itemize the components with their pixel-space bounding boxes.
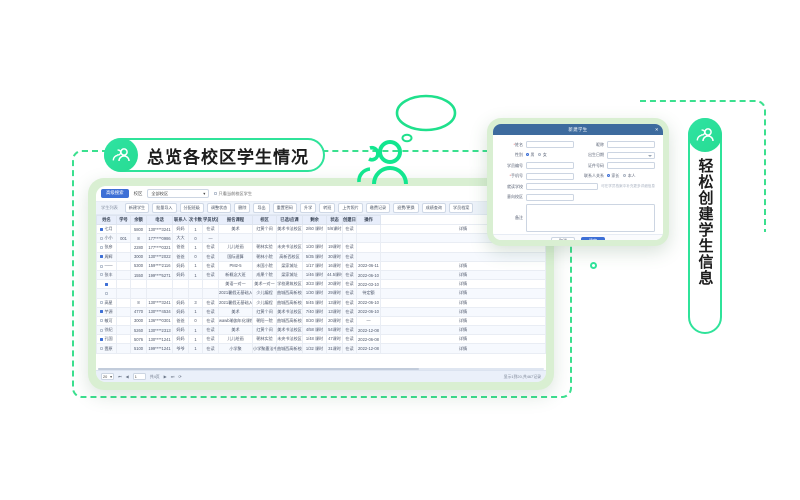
- table-cell-remain: 19课时: [327, 243, 343, 252]
- table-cell-date: —: [357, 316, 381, 325]
- table-cell-cards: 1: [189, 335, 203, 344]
- table-cell-status: [203, 280, 219, 289]
- table-cell-status: [203, 289, 219, 298]
- table-cell-branch: 未央书法校区: [277, 335, 303, 344]
- table-cell-campus: 美术一对一: [253, 280, 277, 289]
- table-cell-remain: 47课时: [327, 335, 343, 344]
- table-cell-date: [357, 234, 381, 243]
- table-cell-action: 详情: [381, 289, 546, 298]
- dialog-title: 新建学生: [568, 127, 587, 133]
- table-cell-branch: 高新西校区: [277, 252, 303, 261]
- table-cell-cards: 1: [189, 307, 203, 316]
- row-checkbox-icon[interactable]: [100, 273, 103, 276]
- table-cell-contact: 爸爸: [173, 252, 189, 261]
- field-input[interactable]: [526, 141, 574, 148]
- table-cell-branch: 美术书法校区: [277, 307, 303, 316]
- search-bar: 高级搜索 校区 全部校区 ▾ 只看当前校区学生 关键字搜索: [96, 186, 546, 202]
- table-row[interactable]: 美语一对一美术一对一学校建筑校区3/23 课时20课时在读2022-03-10详…: [97, 280, 546, 289]
- table-cell-status: —: [203, 234, 219, 243]
- table-cell-hours: 0/20 课时: [303, 316, 327, 325]
- toolbar-button[interactable]: 删除: [234, 203, 250, 212]
- table-cell-date: [357, 243, 381, 252]
- row-checkbox-icon[interactable]: [100, 347, 103, 350]
- badge-overview-label: 总览各校区学生情况: [147, 143, 309, 168]
- table-column-header[interactable]: 学员状态: [203, 216, 219, 225]
- first-page-icon[interactable]: ⏮: [118, 374, 122, 379]
- row-checkbox-icon[interactable]: [100, 265, 103, 268]
- pagination-bar: 20 ▾ ⏮ ◀ 1 共4页 ▶ ⏭ ⟳ 显示1到20,共467记录: [96, 370, 546, 382]
- table-cell-no: [117, 344, 131, 353]
- people-illustration-icon: [356, 138, 412, 190]
- table-cell-status: 在读: [203, 307, 219, 316]
- table-cell-hours: 1/48 课时: [303, 335, 327, 344]
- table-cell-remain: 30课时: [327, 252, 343, 261]
- table-column-header[interactable]: 报名课程: [219, 216, 253, 225]
- table-cell-course: 儿儿绘画: [219, 243, 253, 252]
- table-body: 七月5800130****3241妈妈1在读美术红黄个间美术书法校区2/60 课…: [97, 225, 546, 354]
- table-cell-date: 2022-06-10: [357, 298, 381, 307]
- field-input[interactable]: [607, 162, 655, 169]
- badge-create-label: 轻松创建学生信息: [698, 158, 713, 286]
- table-column-header[interactable]: 余额: [131, 216, 147, 225]
- table-cell-contact: [173, 289, 189, 298]
- table-cell-name: 七月: [97, 225, 117, 234]
- table-cell-course: [219, 234, 253, 243]
- table-cell-phone: 130****2022: [147, 252, 173, 261]
- table-column-header[interactable]: 创建日期: [343, 216, 357, 225]
- table-cell-balance: 5100: [131, 344, 147, 353]
- table-cell-course: 美术: [219, 225, 253, 234]
- dialog-footer: 取消 确定: [493, 234, 663, 240]
- advanced-search-button[interactable]: 高级搜索: [101, 189, 129, 197]
- table-cell-no: [117, 261, 131, 270]
- toolbar-button[interactable]: 转班: [319, 203, 335, 212]
- table-cell-no: [117, 335, 131, 344]
- table-cell-balance: 5800: [131, 225, 147, 234]
- table-cell-name: 敏可: [97, 316, 117, 325]
- table-cell-hours: 1/20 课时: [303, 243, 327, 252]
- table-cell-branch: [277, 234, 303, 243]
- form-row-联系人关系: 联系人关系家长本人: [582, 173, 655, 180]
- create-student-dialog: 新建学生 ✕ *姓名昵称性别男女出生日期学员编号证件号码*手机号联系人关系家长本…: [487, 118, 669, 246]
- table-cell-no: [117, 270, 131, 279]
- table-cell-status: 在读: [203, 261, 219, 270]
- toolbar-button[interactable]: 调整状态: [207, 203, 231, 212]
- toolbar-button[interactable]: 导出: [253, 203, 269, 212]
- table-cell-course: 2021暑假无基础入门班: [219, 298, 253, 307]
- table-cell-branch: 曲城西高新校区: [277, 298, 303, 307]
- table-cell-action: 详情: [381, 280, 546, 289]
- table-cell-campus: 朝林小院: [253, 252, 277, 261]
- table-cell-contact: 爷爷: [173, 344, 189, 353]
- action-toolbar: 学生列表 新建学生 批量导入 分配班级 调整状态 删除 导出 重置密码 升学 转…: [96, 202, 546, 215]
- table-cell-action: 详情: [381, 326, 546, 335]
- table-cell-campus: 少儿编程: [253, 298, 277, 307]
- table-cell-status: 在读: [203, 252, 219, 261]
- cancel-button[interactable]: 取消: [551, 237, 575, 241]
- page-total-label: 共4页: [150, 374, 160, 380]
- table-cell-remain: 20课时: [327, 316, 343, 325]
- last-page-icon[interactable]: ⏭: [171, 374, 175, 379]
- table-cell-action: 详情: [381, 335, 546, 344]
- toolbar-button[interactable]: 升学: [300, 203, 316, 212]
- table-cell-phone: 159****2116: [147, 261, 173, 270]
- table-cell-state: 在读: [343, 243, 357, 252]
- table-cell-date: 2022-06-11: [357, 261, 381, 270]
- table-cell-name: 芋源: [97, 307, 117, 316]
- table-cell-campus: 朝林实验: [253, 243, 277, 252]
- table-cell-cards: 0: [189, 234, 203, 243]
- dialog-title-bar: 新建学生 ✕: [493, 124, 663, 135]
- table-cell-hours: 4/58 课时: [303, 326, 327, 335]
- table-row[interactable]: ——5300159****2116妈妈1在读PM2-5未国小院梁家城址1/17 …: [97, 261, 546, 270]
- chevron-down-icon: ▾: [110, 374, 112, 379]
- toolbar-button[interactable]: 退费/更换: [393, 203, 419, 212]
- table-cell-state: 在读: [343, 316, 357, 325]
- radio-option[interactable]: 男: [526, 152, 534, 158]
- people-icon: [104, 138, 138, 172]
- table-cell-no: [117, 243, 131, 252]
- radio-option[interactable]: 女: [538, 152, 546, 158]
- radio-group[interactable]: 家长本人: [607, 173, 636, 179]
- table-cell-course: 国际速算: [219, 252, 253, 261]
- table-cell-state: 在读: [343, 326, 357, 335]
- table-column-header[interactable]: 姓名: [97, 216, 117, 225]
- table-cell-name: 高星: [97, 298, 117, 307]
- radio-icon: [526, 153, 529, 156]
- radio-icon: [623, 174, 626, 177]
- table-cell-cards: [189, 280, 203, 289]
- table-row[interactable]: 张彦2280177****0321爸爸1在读儿儿绘画朝林实验未央书法校区1/20…: [97, 243, 546, 252]
- form-row-就读学校: 就读学校可在学员档案中补充更多详细信息: [501, 183, 655, 190]
- table-row[interactable]: 敏可3000136****0301爸爸0在读wawb瑜伽年化课程朝阳一院曲城西高…: [97, 316, 546, 325]
- row-checkbox-icon[interactable]: [100, 237, 103, 240]
- row-checkbox-icon[interactable]: [100, 329, 103, 332]
- form-row-证件号码: 证件号码: [582, 162, 655, 169]
- table-cell-remain: 5/6课时: [327, 225, 343, 234]
- table-row[interactable]: 张丰1550199****5271妈妈1在读新概念大班成果个院梁家城址1/46 …: [97, 270, 546, 279]
- campus-filter-label: 校区: [134, 191, 143, 197]
- table-cell-remain: 20课时: [327, 280, 343, 289]
- form-row-出生日期: 出生日期: [582, 152, 655, 159]
- table-cell-contact: 妈妈: [173, 326, 189, 335]
- table-row[interactable]: 七月5800130****3241妈妈1在读美术红黄个间美术书法校区2/60 课…: [97, 225, 546, 234]
- table-cell-cards: [189, 289, 203, 298]
- table-cell-state: 在读: [343, 225, 357, 234]
- table-cell-campus: 未国小院: [253, 261, 277, 270]
- table-cell-hours: 1/17 课时: [303, 261, 327, 270]
- field-input[interactable]: [526, 173, 574, 180]
- table-cell-campus: 成果个院: [253, 270, 277, 279]
- field-input[interactable]: [607, 152, 655, 159]
- table-cell-date: 2022-06-10: [357, 307, 381, 316]
- radio-option[interactable]: 家长: [607, 173, 619, 179]
- row-checkbox-icon[interactable]: [100, 246, 103, 249]
- table-cell-status: 在读: [203, 225, 219, 234]
- table-cell-course: 美术: [219, 307, 253, 316]
- radio-icon: [538, 153, 541, 156]
- table-cell-name: 张彦: [97, 243, 117, 252]
- row-checkbox-icon[interactable]: [100, 255, 103, 258]
- table-cell-date: [357, 252, 381, 261]
- table-row[interactable]: 孔国5076130****1241妈妈1在读儿儿绘画朝林实验未央书法校区1/48…: [97, 335, 546, 344]
- toolbar-button[interactable]: 成绩查询: [422, 203, 446, 212]
- table-cell-phone: 199****1241: [147, 344, 173, 353]
- current-campus-checkbox[interactable]: 只看当前校区学生: [214, 191, 252, 197]
- table-cell-campus: 少儿编程: [253, 289, 277, 298]
- table-cell-no: [117, 307, 131, 316]
- table-cell-balance: 5076: [131, 335, 147, 344]
- table-cell-course: 美语一对一: [219, 280, 253, 289]
- table-cell-hours: 1/30 课时: [303, 289, 327, 298]
- table-cell-branch: 梁家城址: [277, 261, 303, 270]
- table-cell-action: 详情: [381, 298, 546, 307]
- table-cell-branch: 美术书法校区: [277, 225, 303, 234]
- field-hint: 可在学员档案中补充更多详细信息: [601, 184, 655, 189]
- table-cell-course: 美术: [219, 326, 253, 335]
- table-cell-status: 在读: [203, 243, 219, 252]
- table-row[interactable]: 高星8130****3241妈妈3在读2021暑假无基础入门班少儿编程曲城西高新…: [97, 298, 546, 307]
- campus-filter-select[interactable]: 全部校区 ▾: [147, 189, 209, 198]
- radio-icon: [607, 174, 610, 177]
- badge-overview: 总览各校区学生情况: [104, 138, 325, 172]
- field-label: 联系人关系: [582, 173, 604, 179]
- campus-filter-value: 全部校区: [151, 191, 168, 197]
- chevron-down-icon: ▾: [203, 191, 205, 196]
- table-cell-branch: 未央书法校区: [277, 243, 303, 252]
- table-cell-state: [343, 234, 357, 243]
- table-cell-state: 在读: [343, 289, 357, 298]
- table-column-header[interactable]: 已选/应课: [277, 216, 303, 225]
- student-table: 姓名学号余额电话联系人次卡数学员状态报名课程校区已选/应课剩余状态创建日期操作 …: [96, 215, 546, 354]
- table-cell-branch: 曲城西高新校区: [277, 316, 303, 325]
- table-cell-phone: 177****0321: [147, 243, 173, 252]
- table-cell-course: PM2-5: [219, 261, 253, 270]
- form-row-意向校区: 意向校区: [501, 194, 574, 201]
- table-cell-balance: 3000: [131, 316, 147, 325]
- row-checkbox-icon[interactable]: [100, 301, 103, 304]
- table-row[interactable]: 徐纪5260130****2313妈妈1在读美术红黄个间美术书法校区4/58 课…: [97, 326, 546, 335]
- table-cell-contact: 妈妈: [173, 270, 189, 279]
- confirm-button[interactable]: 确定: [581, 237, 605, 241]
- table-cell-course: wawb瑜伽年化课程: [219, 316, 253, 325]
- table-column-header[interactable]: 学号: [117, 216, 131, 225]
- field-label: *手机号: [501, 173, 523, 179]
- table-cell-remain: 54课时: [327, 326, 343, 335]
- table-cell-contact: 妈妈: [173, 298, 189, 307]
- row-checkbox-icon[interactable]: [100, 319, 103, 322]
- table-column-header[interactable]: 校区: [253, 216, 277, 225]
- table-cell-no: [117, 225, 131, 234]
- table-column-header[interactable]: 次卡数: [189, 216, 203, 225]
- table-cell-state: 在读: [343, 252, 357, 261]
- toolbar-button[interactable]: 批量导入: [152, 203, 176, 212]
- table-cell-no: [117, 289, 131, 298]
- row-checkbox-icon[interactable]: [100, 228, 103, 231]
- table-cell-remain: 16课时: [327, 261, 343, 270]
- table-cell-remain: 44.5课时: [327, 270, 343, 279]
- table-cell-state: 在读: [343, 298, 357, 307]
- table-cell-phone: 130****1241: [147, 335, 173, 344]
- refresh-icon[interactable]: ⟳: [178, 374, 181, 379]
- table-cell-no: [117, 280, 131, 289]
- field-label: 出生日期: [582, 152, 604, 158]
- table-cell-phone: 177****0986: [147, 234, 173, 243]
- field-input[interactable]: [526, 183, 598, 190]
- table-cell-hours: 1/32 课时: [303, 344, 327, 353]
- form-row-备注: 备注: [501, 204, 655, 232]
- table-cell-contact: 爸爸: [173, 243, 189, 252]
- table-cell-hours: 2/60 课时: [303, 225, 327, 234]
- table-cell-cards: 1: [189, 225, 203, 234]
- form-row-姓名: *姓名: [501, 141, 574, 148]
- table-cell-no: [117, 298, 131, 307]
- table-cell-contact: 妈妈: [173, 335, 189, 344]
- row-checkbox-icon[interactable]: [105, 283, 108, 286]
- table-header-row: 姓名学号余额电话联系人次卡数学员状态报名课程校区已选/应课剩余状态创建日期操作: [97, 216, 546, 225]
- field-textarea[interactable]: [526, 204, 655, 232]
- prev-page-icon[interactable]: ◀: [126, 374, 129, 379]
- table-cell-name: 周辉: [97, 252, 117, 261]
- toolbar-button[interactable]: 重置密码: [273, 203, 297, 212]
- table-cell-hours: 3/23 课时: [303, 280, 327, 289]
- table-cell-name: [97, 280, 117, 289]
- table-cell-campus: 红黄个间: [253, 326, 277, 335]
- table-cell-campus: 朝林实验: [253, 335, 277, 344]
- table-cell-remain: 31课时: [327, 344, 343, 353]
- table-cell-phone: 130****2313: [147, 326, 173, 335]
- table-cell-branch: 曲城西高新校区: [277, 344, 303, 353]
- table-cell-no: [117, 326, 131, 335]
- field-label: 证件号码: [582, 163, 604, 169]
- table-cell-remain: 29课时: [327, 289, 343, 298]
- table-cell-no: 001: [117, 234, 131, 243]
- table-row[interactable]: 芋源4770130****4534妈妈1在读美术红黄个间美术书法校区7/40 课…: [97, 307, 546, 316]
- table-cell-remain: 13课时: [327, 307, 343, 316]
- table-cell-branch: 梁家城址: [277, 270, 303, 279]
- table-cell-hours: 7/40 课时: [303, 307, 327, 316]
- table-cell-date: 2022-06-10: [357, 270, 381, 279]
- table-cell-phone: 130****4534: [147, 307, 173, 316]
- badge-create: 轻松创建学生信息: [688, 118, 722, 334]
- radio-group[interactable]: 男女: [526, 152, 547, 158]
- table-cell-contact: 妈妈: [173, 225, 189, 234]
- field-input[interactable]: [526, 162, 574, 169]
- table-cell-state: 在读: [343, 307, 357, 316]
- table-cell-balance: 8: [131, 298, 147, 307]
- table-row[interactable]: 小小0018177****0986大大0—: [97, 234, 546, 243]
- table-cell-status: 在读: [203, 316, 219, 325]
- form-row-学员编号: 学员编号: [501, 162, 574, 169]
- table-cell-course: 儿儿绘画: [219, 335, 253, 344]
- table-column-header[interactable]: 剩余: [303, 216, 327, 225]
- table-cell-state: 在读: [343, 335, 357, 344]
- toolbar-button[interactable]: 学员档案: [449, 203, 473, 212]
- field-input[interactable]: [607, 141, 655, 148]
- table-cell-campus: 红黄个间: [253, 225, 277, 234]
- thought-bubble-icon: [392, 92, 460, 144]
- toolbar-button[interactable]: 新建学生: [125, 203, 149, 212]
- table-cell-contact: 妈妈: [173, 307, 189, 316]
- row-checkbox-icon[interactable]: [100, 310, 103, 313]
- table-cell-campus: [253, 234, 277, 243]
- table-row[interactable]: 2021暑假无基础入门班少儿编程曲城西高新校区1/30 课时29课时在读待定额详…: [97, 289, 546, 298]
- page-size-value: 20: [103, 375, 107, 379]
- table-cell-contact: [173, 280, 189, 289]
- table-cell-name: 徐纪: [97, 326, 117, 335]
- table-cell-cards: 1: [189, 261, 203, 270]
- table-cell-status: 在读: [203, 344, 219, 353]
- table-column-header[interactable]: 电话: [147, 216, 173, 225]
- next-page-icon[interactable]: ▶: [164, 374, 167, 379]
- table-cell-balance: 2280: [131, 243, 147, 252]
- table-cell-course: 小学聚: [219, 344, 253, 353]
- table-cell-course: 2021暑假无基础入门班: [219, 289, 253, 298]
- table-column-header[interactable]: 联系人: [173, 216, 189, 225]
- record-count-label: 显示1到20,共467记录: [504, 374, 541, 380]
- table-row[interactable]: 壹原5100199****1241爷爷1在读小学聚小学聚墨法中学曲城西高新校区1…: [97, 344, 546, 353]
- toolbar-button[interactable]: 分配班级: [180, 203, 204, 212]
- field-label: 昵称: [582, 142, 604, 148]
- row-checkbox-icon[interactable]: [100, 338, 103, 341]
- table-cell-contact: 爸爸: [173, 316, 189, 325]
- table-cell-branch: 学校建筑校区: [277, 280, 303, 289]
- field-label: 性别: [501, 152, 523, 158]
- student-table-scroll[interactable]: 姓名学号余额电话联系人次卡数学员状态报名课程校区已选/应课剩余状态创建日期操作 …: [96, 215, 546, 370]
- row-checkbox-icon[interactable]: [105, 292, 108, 295]
- page-size-select[interactable]: 20 ▾: [101, 373, 114, 380]
- table-cell-campus: 红黄个间: [253, 307, 277, 316]
- toolbar-button[interactable]: 缴费记录: [366, 203, 390, 212]
- table-cell-action: 详情: [381, 316, 546, 325]
- table-cell-campus: 朝阳一院: [253, 316, 277, 325]
- table-cell-date: 2022-06-08: [357, 335, 381, 344]
- table-cell-contact: 妈妈: [173, 261, 189, 270]
- table-cell-name: 壹原: [97, 344, 117, 353]
- table-cell-balance: 1550: [131, 270, 147, 279]
- table-cell-cards: 0: [189, 252, 203, 261]
- table-cell-state: 在读: [343, 261, 357, 270]
- table-row[interactable]: 周辉3000130****2022爸爸0在读国际速算朝林小院高新西校区5/35 …: [97, 252, 546, 261]
- page-number-input[interactable]: 1: [133, 373, 146, 380]
- toolbar-button[interactable]: 上传照片: [338, 203, 362, 212]
- table-cell-action: 详情: [381, 261, 546, 270]
- table-cell-balance: 5300: [131, 261, 147, 270]
- table-cell-phone: 136****0301: [147, 316, 173, 325]
- close-icon[interactable]: ✕: [655, 127, 659, 131]
- table-cell-status: 在读: [203, 270, 219, 279]
- form-row-手机号: *手机号: [501, 173, 574, 180]
- toolbar-title: 学生列表: [101, 205, 118, 211]
- checkbox-icon: [214, 192, 217, 195]
- table-column-header[interactable]: 操作: [357, 216, 381, 225]
- table-cell-date: 2022-12-08: [357, 326, 381, 335]
- table-cell-no: [117, 252, 131, 261]
- form-row-性别: 性别男女: [501, 152, 574, 159]
- table-cell-phone: 130****3241: [147, 298, 173, 307]
- table-cell-phone: 130****3241: [147, 225, 173, 234]
- table-column-header[interactable]: 状态: [327, 216, 343, 225]
- dialog-form: *姓名昵称性别男女出生日期学员编号证件号码*手机号联系人关系家长本人就读学校可在…: [493, 135, 663, 234]
- radio-option[interactable]: 本人: [623, 173, 635, 179]
- table-cell-hours: 5/45 课时: [303, 298, 327, 307]
- horizontal-scrollbar[interactable]: [98, 368, 544, 370]
- table-cell-cards: 0: [189, 316, 203, 325]
- table-cell-balance: [131, 280, 147, 289]
- page-number-value: 1: [135, 375, 137, 379]
- field-input[interactable]: [526, 194, 574, 201]
- table-cell-cards: 1: [189, 270, 203, 279]
